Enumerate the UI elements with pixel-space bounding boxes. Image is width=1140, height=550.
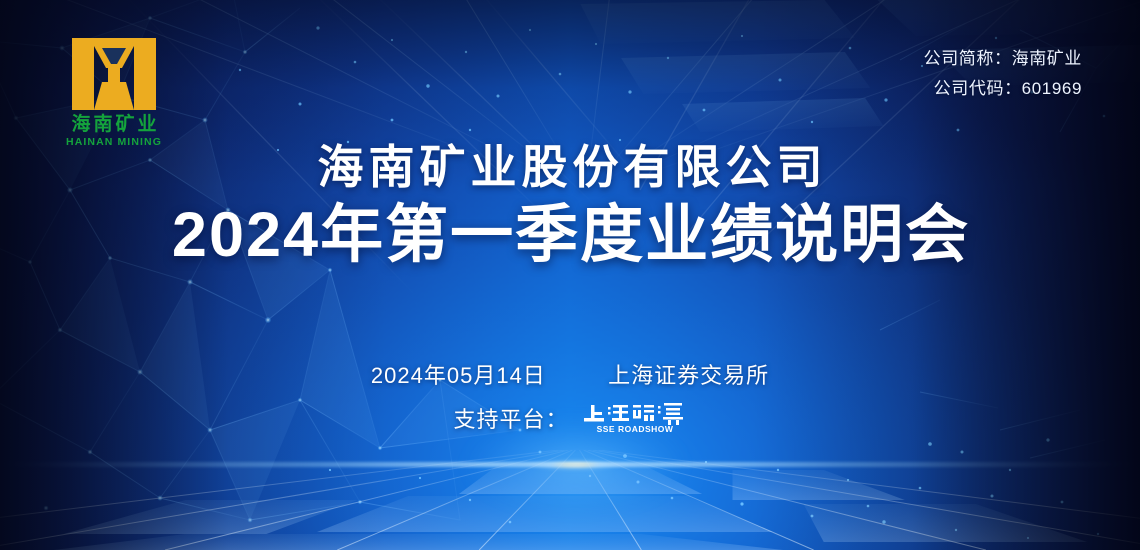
event-venue: 上海证券交易所 — [608, 363, 769, 388]
presentation-banner: 海南矿业 HAINAN MINING 公司简称：海南矿业 公司代码：601969… — [0, 0, 1140, 550]
platform-label: 支持平台： — [453, 402, 568, 434]
company-code: 公司代码：601969 — [924, 74, 1082, 104]
event-date: 2024年05月14日 — [371, 363, 546, 388]
title-group: 海南矿业股份有限公司 2024年第一季度业绩说明会 — [0, 140, 1140, 272]
company-abbreviation: 公司简称：海南矿业 — [924, 44, 1082, 74]
hainan-mining-m-monogram-icon — [68, 36, 160, 112]
event-title: 2024年第一季度业绩说明会 — [0, 200, 1140, 272]
platform-row: 支持平台： — [0, 401, 1140, 435]
sse-roadshow-logo-icon: SSE ROADSHOW — [583, 401, 687, 435]
svg-text:SSE ROADSHOW: SSE ROADSHOW — [596, 424, 673, 434]
event-info: 2024年05月14日 上海证券交易所 支持平台： — [0, 358, 1140, 435]
event-date-venue: 2024年05月14日 上海证券交易所 — [0, 358, 1140, 390]
company-meta: 公司简称：海南矿业 公司代码：601969 — [924, 44, 1082, 104]
logo-name-cn: 海南矿业 — [46, 115, 182, 136]
company-logo: 海南矿业 HAINAN MINING — [46, 36, 182, 148]
company-title: 海南矿业股份有限公司 — [0, 140, 1140, 194]
